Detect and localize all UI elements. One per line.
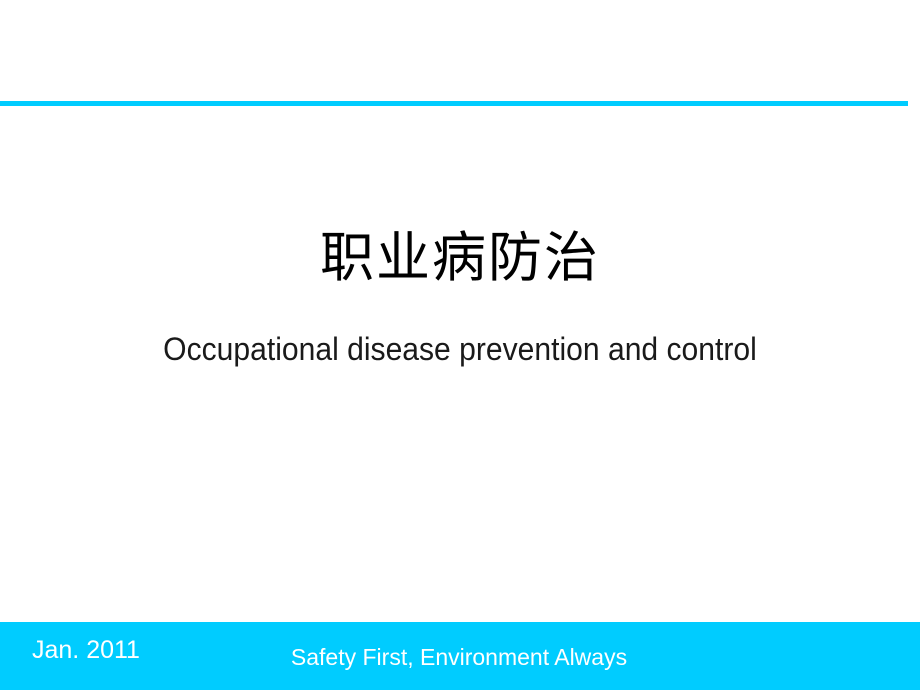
footer-tagline: Safety First, Environment Always: [0, 646, 920, 669]
footer-tagline-text: Safety First, Environment Always: [291, 646, 627, 669]
presentation-slide: 职业病防治 Occupational disease prevention an…: [0, 0, 920, 690]
footer-bar: Jan. 2011 Safety First, Environment Alwa…: [0, 622, 920, 690]
title-block: 职业病防治 Occupational disease prevention an…: [0, 228, 920, 369]
slide-title-chinese: 职业病防治: [0, 228, 920, 288]
top-accent-rule: [0, 101, 908, 106]
slide-subtitle-english: Occupational disease prevention and cont…: [28, 330, 893, 368]
